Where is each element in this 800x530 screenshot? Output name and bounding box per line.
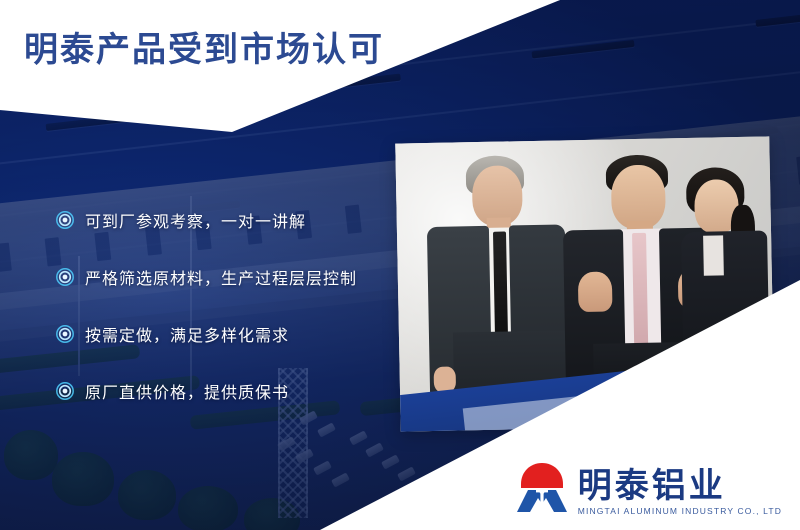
feature-text: 按需定做，满足多样化需求 <box>85 322 289 346</box>
feature-item: 按需定做，满足多样化需求 <box>56 322 416 346</box>
feature-text: 原厂直供价格，提供质保书 <box>85 379 289 403</box>
feature-item: 可到厂参观考察，一对一讲解 <box>56 208 416 232</box>
feature-text: 严格筛选原材料，生产过程层层控制 <box>85 265 357 289</box>
logo-name-cn: 明泰铝业 <box>578 469 782 503</box>
target-ring-icon <box>56 382 74 400</box>
page-title: 明泰产品受到市场认可 <box>24 22 384 71</box>
company-logo: 明泰铝业 MINGTAI ALUMINUM INDUSTRY CO., LTD <box>514 460 782 516</box>
target-ring-icon <box>56 325 74 343</box>
logo-name-en: MINGTAI ALUMINUM INDUSTRY CO., LTD <box>578 506 782 516</box>
promo-banner: 明泰产品受到市场认可 可到厂参观考察，一对一讲解 严格筛选原材料，生 <box>0 0 800 530</box>
feature-item: 原厂直供价格，提供质保书 <box>56 379 416 403</box>
target-ring-icon <box>56 211 74 229</box>
mingtai-sun-mountain-icon <box>514 460 570 516</box>
target-ring-icon <box>56 268 74 286</box>
feature-item: 严格筛选原材料，生产过程层层控制 <box>56 265 416 289</box>
feature-list: 可到厂参观考察，一对一讲解 严格筛选原材料，生产过程层层控制 按需定做， <box>56 208 416 436</box>
feature-text: 可到厂参观考察，一对一讲解 <box>85 208 306 232</box>
